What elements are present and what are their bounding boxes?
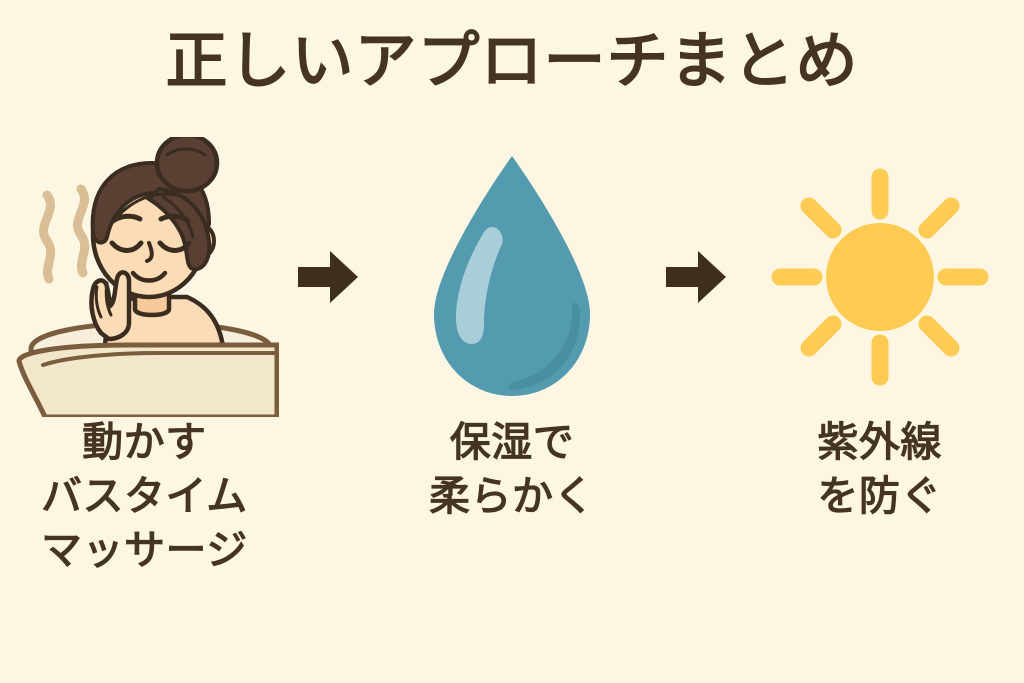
step-moisturize: [368, 132, 657, 422]
steam-icon: [44, 189, 85, 279]
sun-core: [826, 223, 934, 331]
hair-bun: [157, 137, 217, 191]
droplet-body: [434, 156, 590, 396]
water-droplet-icon: [422, 152, 602, 402]
infographic-root: 正しいアプローチまとめ: [0, 0, 1024, 683]
label-line: を防ぐ: [735, 469, 1024, 523]
arrow-right-icon: [296, 249, 360, 305]
woman-in-bathtub-icon: [9, 137, 279, 417]
label-line: 紫外線: [735, 415, 1024, 469]
label-line: 柔らかく: [368, 469, 657, 523]
label-spacer: [656, 415, 735, 615]
page-title: 正しいアプローチまとめ: [0, 28, 1024, 96]
step-bath-massage: [0, 132, 289, 422]
label-spacer: [289, 415, 368, 615]
label-bath-massage: 動かす バスタイム マッサージ: [0, 415, 289, 615]
label-line: 動かす: [0, 415, 289, 469]
label-line: 保湿で: [368, 415, 657, 469]
label-line: バスタイム: [0, 469, 289, 523]
step-uv-protection: [735, 132, 1024, 422]
steps-row: [0, 132, 1024, 422]
label-moisturize: 保湿で 柔らかく: [368, 415, 657, 615]
bathtub-front: [19, 345, 277, 417]
arrow-right-icon: [664, 249, 728, 305]
label-line: マッサージ: [0, 523, 289, 577]
sun-icon: [770, 167, 990, 387]
label-uv-protection: 紫外線 を防ぐ: [735, 415, 1024, 615]
arrow-2: [656, 132, 735, 422]
labels-row: 動かす バスタイム マッサージ 保湿で 柔らかく 紫外線 を防ぐ: [0, 415, 1024, 615]
arrow-1: [289, 132, 368, 422]
